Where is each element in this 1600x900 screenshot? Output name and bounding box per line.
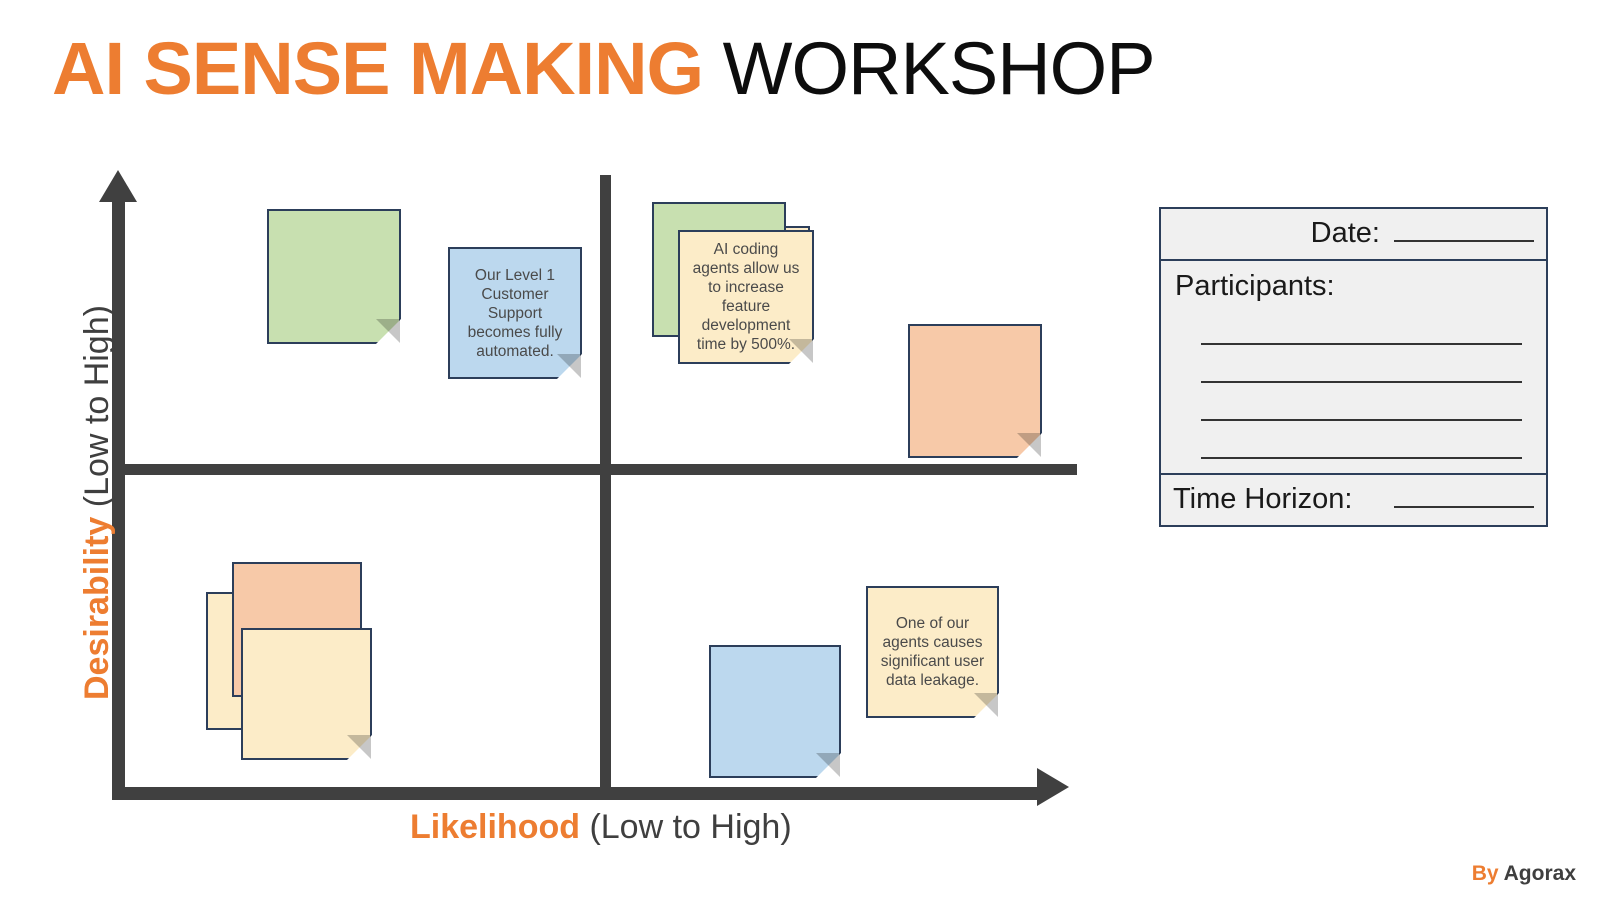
page-title-plain: WORKSHOP xyxy=(703,27,1154,110)
sticky-note-data-leakage[interactable]: One of our agents causes significant use… xyxy=(866,586,999,718)
sticky-note-text: AI coding agents allow us to increase fe… xyxy=(689,240,803,354)
date-label: Date: xyxy=(1311,213,1380,253)
sticky-note-customer-support[interactable]: Our Level 1 Customer Support becomes ful… xyxy=(448,247,582,379)
participants-row: Participants: xyxy=(1161,259,1546,473)
sticky-note-blue-bottom-right[interactable] xyxy=(709,645,841,778)
quadrant-vertical-divider xyxy=(600,175,611,793)
footer-brand: Agorax xyxy=(1504,862,1576,885)
participant-input-line-3[interactable] xyxy=(1201,383,1522,421)
participant-input-line-2[interactable] xyxy=(1201,345,1522,383)
footer-attribution: By Agorax xyxy=(1472,862,1576,886)
workshop-info-box: Date: Participants: Time Horizon: xyxy=(1159,207,1548,527)
quadrant-horizontal-divider xyxy=(112,464,1077,475)
y-axis-label-plain: (Low to High) xyxy=(78,305,116,517)
footer-accent: By xyxy=(1472,862,1504,885)
x-axis-label-plain: (Low to High) xyxy=(580,808,792,846)
date-input-line[interactable] xyxy=(1394,214,1534,242)
date-row: Date: xyxy=(1161,209,1546,259)
sticky-note-ai-coding-agents[interactable]: AI coding agents allow us to increase fe… xyxy=(678,230,814,364)
slide-canvas: AI SENSE MAKING WORKSHOP Desirability (L… xyxy=(0,0,1600,900)
time-horizon-row: Time Horizon: xyxy=(1161,473,1546,525)
participant-input-line-4[interactable] xyxy=(1201,421,1522,459)
y-axis-label-accent: Desirability xyxy=(78,517,116,700)
sticky-note-cream-front-left[interactable] xyxy=(241,628,372,760)
x-axis-arrow-icon xyxy=(1037,768,1069,806)
time-horizon-label: Time Horizon: xyxy=(1173,479,1352,519)
x-axis-label-accent: Likelihood xyxy=(410,808,580,846)
time-horizon-input-line[interactable] xyxy=(1394,480,1534,508)
x-axis-label: Likelihood (Low to High) xyxy=(410,808,792,847)
sticky-note-text: Our Level 1 Customer Support becomes ful… xyxy=(459,266,571,361)
participants-label: Participants: xyxy=(1173,265,1534,307)
x-axis-line xyxy=(112,787,1042,800)
sticky-note-green-top-left[interactable] xyxy=(267,209,401,344)
sticky-note-peach-top-right[interactable] xyxy=(908,324,1042,458)
y-axis-arrow-icon xyxy=(99,170,137,202)
participant-input-line-1[interactable] xyxy=(1201,307,1522,345)
y-axis-label: Desirability (Low to High) xyxy=(78,305,117,700)
sticky-note-text: One of our agents causes significant use… xyxy=(877,614,988,690)
page-title-accent: AI SENSE MAKING xyxy=(52,27,703,110)
page-title: AI SENSE MAKING WORKSHOP xyxy=(52,24,1155,114)
